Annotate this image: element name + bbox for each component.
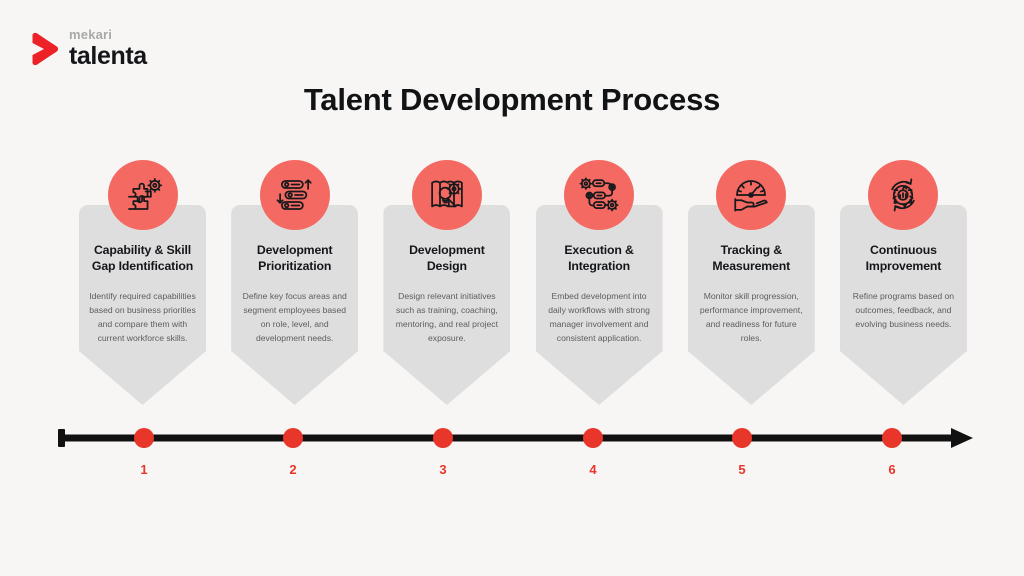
timeline-dot-3 [433,428,453,448]
brand-wordmark: mekari talenta [69,28,147,69]
card-description: Design relevant initiatives such as trai… [389,290,504,346]
timeline-label-1: 1 [124,462,164,477]
timeline-dot-5 [732,428,752,448]
timeline-label-3: 3 [423,462,463,477]
timeline-dot-6 [882,428,902,448]
process-steps-row: Capability & Skill Gap Identification Id… [79,160,967,405]
timeline-label-2: 2 [273,462,313,477]
timeline-axis [0,418,1024,488]
gauge-on-hand-icon [716,160,786,230]
brand-logo: mekari talenta [30,28,147,69]
card-heading: Development Design [389,243,504,274]
timeline-dot-2 [283,428,303,448]
timeline-line [58,435,959,442]
process-step-card-3: Development Design Design relevant initi… [383,160,510,405]
card-description: Embed development into daily workflows w… [542,290,657,346]
card-description: Refine programs based on outcomes, feedb… [846,290,961,332]
process-timeline: 1 2 3 4 5 6 [0,418,1024,488]
priority-reorder-list-icon [260,160,330,230]
page-title: Talent Development Process [0,82,1024,118]
timeline-label-4: 4 [573,462,613,477]
mekari-chevron-logo-icon [30,32,60,66]
card-description: Define key focus areas and segment emplo… [237,290,352,346]
process-step-card-1: Capability & Skill Gap Identification Id… [79,160,206,405]
timeline-label-6: 6 [872,462,912,477]
timeline-label-5: 5 [722,462,762,477]
brand-name-mekari: mekari [69,28,147,41]
process-step-card-6: Continuous Improvement Refine programs b… [840,160,967,405]
puzzle-pieces-gear-icon [108,160,178,230]
timeline-dot-1 [134,428,154,448]
timeline-dot-4 [583,428,603,448]
card-heading: Capability & Skill Gap Identification [85,243,200,274]
process-step-card-4: Execution & Integration Embed developmen… [536,160,663,405]
blueprint-lightbulb-gear-icon [412,160,482,230]
brand-name-talenta: talenta [69,44,147,69]
card-heading: Execution & Integration [542,243,657,274]
process-step-card-2: Development Prioritization Define key fo… [231,160,358,405]
timeline-arrow-head-icon [951,428,973,448]
gear-cycle-arrows-icon [868,160,938,230]
card-description: Identify required capabilities based on … [85,290,200,346]
card-heading: Development Prioritization [237,243,352,274]
infographic-canvas: mekari talenta Talent Development Proces… [0,0,1024,576]
process-step-card-5: Tracking & Measurement Monitor skill pro… [688,160,815,405]
card-description: Monitor skill progression, performance i… [694,290,809,346]
card-heading: Continuous Improvement [846,243,961,274]
card-heading: Tracking & Measurement [694,243,809,274]
workflow-gears-network-icon [564,160,634,230]
